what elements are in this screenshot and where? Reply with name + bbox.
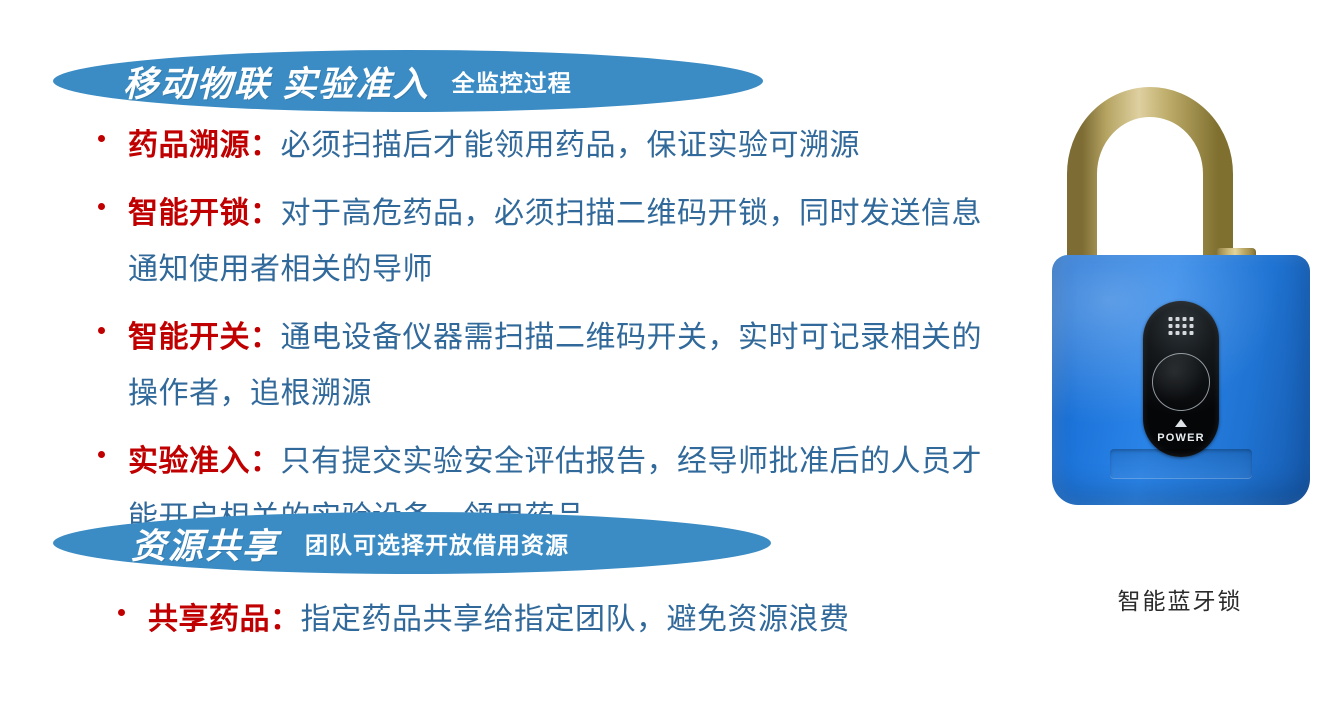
bullet-dot-icon	[118, 609, 125, 616]
fingerprint-sensor-icon[interactable]	[1152, 353, 1210, 411]
padlock-control-panel[interactable]: POWER	[1143, 301, 1219, 457]
bullet-text: 共享药品：指定药品共享给指定团队，避免资源浪费	[148, 592, 1000, 648]
list-item: 药品溯源：必须扫描后才能领用药品，保证实验可溯源	[0, 118, 1000, 174]
banner-access-control-subtitle: 全监控过程	[452, 64, 572, 98]
bullet-dot-icon	[98, 327, 105, 334]
list-item: 智能开关：通电设备仪器需扫描二维码开关，实时可记录相关的操作者，追根溯源	[0, 310, 1000, 422]
banner-resource-sharing-title: 资源共享	[131, 518, 279, 569]
bullet-label: 智能开锁：	[128, 197, 281, 230]
bullet-dot-icon	[98, 135, 105, 142]
bullet-label: 智能开关：	[128, 321, 281, 354]
padlock-figure: POWER 智能蓝牙锁	[1020, 60, 1340, 620]
bullet-label: 共享药品：	[148, 603, 301, 636]
power-triangle-icon	[1175, 419, 1187, 427]
speaker-grille-icon	[1169, 317, 1194, 335]
bullet-body: 指定药品共享给指定团队，避免资源浪费	[301, 603, 850, 636]
bullet-list-sharing: 共享药品：指定药品共享给指定团队，避免资源浪费	[0, 592, 1000, 660]
banner-resource-sharing-subtitle: 团队可选择开放借用资源	[305, 526, 569, 560]
bullet-text: 药品溯源：必须扫描后才能领用药品，保证实验可溯源	[128, 118, 1000, 174]
list-item: 共享药品：指定药品共享给指定团队，避免资源浪费	[0, 592, 1000, 648]
bullet-dot-icon	[98, 451, 105, 458]
bullet-text: 智能开关：通电设备仪器需扫描二维码开关，实时可记录相关的操作者，追根溯源	[128, 310, 1000, 422]
bullet-text: 智能开锁：对于高危药品，必须扫描二维码开锁，同时发送信息通知使用者相关的导师	[128, 186, 1000, 298]
banner-resource-sharing: 资源共享 团队可选择开放借用资源	[53, 512, 771, 574]
padlock-caption: 智能蓝牙锁	[1020, 582, 1340, 616]
padlock-label-slot	[1110, 449, 1252, 479]
bullet-dot-icon	[98, 203, 105, 210]
bullet-body: 必须扫描后才能领用药品，保证实验可溯源	[281, 129, 861, 162]
padlock-body: POWER	[1052, 255, 1310, 505]
bullet-list-access: 药品溯源：必须扫描后才能领用药品，保证实验可溯源 智能开锁：对于高危药品，必须扫…	[0, 118, 1000, 558]
banner-access-control-title: 移动物联 实验准入	[123, 56, 430, 107]
list-item: 智能开锁：对于高危药品，必须扫描二维码开锁，同时发送信息通知使用者相关的导师	[0, 186, 1000, 298]
bullet-label: 实验准入：	[128, 445, 281, 478]
banner-access-control: 移动物联 实验准入 全监控过程	[53, 50, 763, 112]
bullet-label: 药品溯源：	[128, 129, 281, 162]
power-label: POWER	[1143, 432, 1219, 444]
content-column: 移动物联 实验准入 全监控过程 药品溯源：必须扫描后才能领用药品，保证实验可溯源…	[0, 0, 1010, 701]
